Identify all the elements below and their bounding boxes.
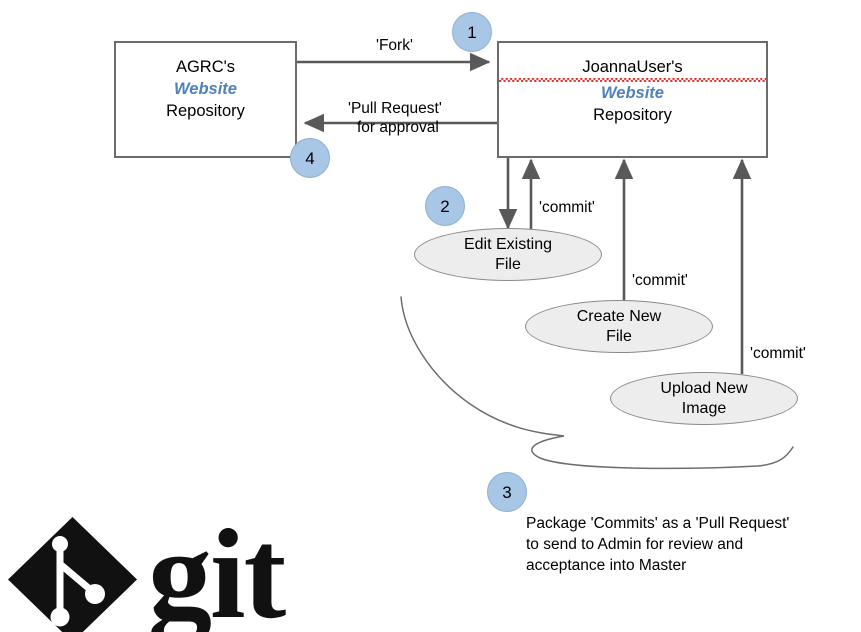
repo-owner-agrc: AGRC's <box>116 56 295 78</box>
action-ellipse-edit-existing-file-text: Edit Existing File <box>464 235 552 275</box>
pull-request-note-line2: to send to Admin for review and <box>526 534 789 555</box>
repo-kind-agrc: Repository <box>116 100 295 122</box>
action-label-line2: File <box>464 255 552 275</box>
action-label-line2: File <box>577 327 661 347</box>
action-label-line2: Image <box>660 399 747 419</box>
action-ellipse-upload-new-image-text: Upload New Image <box>660 379 747 419</box>
edge-label-pull-request-line2: for approval <box>357 118 442 137</box>
action-label-line1: Upload New <box>660 379 747 399</box>
action-ellipse-upload-new-image[interactable]: Upload New Image <box>610 372 798 425</box>
action-ellipse-create-new-file-text: Create New File <box>577 307 661 347</box>
repo-owner-joannauser: JoannaUser's <box>499 56 766 82</box>
repo-site-joannauser: Website <box>499 82 766 104</box>
repository-label-agrc: AGRC's Website Repository <box>116 56 295 122</box>
step-badge-3[interactable]: 3 <box>487 472 527 512</box>
step-badge-1[interactable]: 1 <box>452 12 492 52</box>
repository-box-joannauser[interactable]: JoannaUser's Website Repository <box>497 41 768 158</box>
edge-label-pull-request: 'Pull Request' for approval <box>348 99 442 137</box>
edge-label-commit-create: 'commit' <box>632 271 688 290</box>
action-ellipse-create-new-file[interactable]: Create New File <box>525 300 713 353</box>
edge-label-commit-upload: 'commit' <box>750 344 806 363</box>
step-badge-2[interactable]: 2 <box>425 186 465 226</box>
repository-label-joannauser: JoannaUser's Website Repository <box>499 56 766 126</box>
diagram-canvas: AGRC's Website Repository JoannaUser's W… <box>0 0 861 632</box>
edge-label-fork: 'Fork' <box>376 36 413 55</box>
pull-request-note: Package 'Commits' as a 'Pull Request' to… <box>526 513 789 576</box>
action-label-line1: Edit Existing <box>464 235 552 255</box>
action-label-line1: Create New <box>577 307 661 327</box>
repo-kind-joannauser: Repository <box>499 104 766 126</box>
pull-request-note-line3: acceptance into Master <box>526 555 789 576</box>
edge-label-pull-request-line1: 'Pull Request' <box>348 99 442 118</box>
action-ellipse-edit-existing-file[interactable]: Edit Existing File <box>414 228 602 281</box>
git-logo-svg: git <box>0 509 322 632</box>
edge-label-commit-edit: 'commit' <box>539 198 595 217</box>
repo-site-agrc: Website <box>116 78 295 100</box>
repository-box-agrc[interactable]: AGRC's Website Repository <box>114 41 297 158</box>
git-wordmark: git <box>148 509 287 632</box>
git-diamond-icon <box>8 517 137 632</box>
pull-request-note-line1: Package 'Commits' as a 'Pull Request' <box>526 513 789 534</box>
step-badge-4[interactable]: 4 <box>290 138 330 178</box>
git-logo: git <box>0 509 322 632</box>
